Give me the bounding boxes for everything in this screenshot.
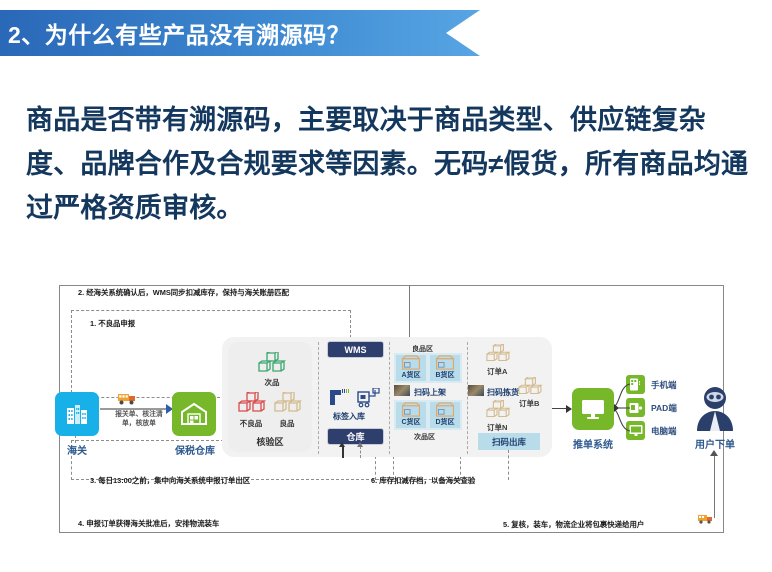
- header-banner: 2、为什么有些产品没有溯源码？: [0, 0, 480, 66]
- arrow-warehouse-out: [360, 446, 361, 458]
- banner-shape: 2、为什么有些产品没有溯源码？: [0, 10, 480, 56]
- cell-A[interactable]: A货区: [396, 355, 426, 381]
- label-inbound-label: 标签入库: [333, 411, 365, 422]
- warehouse-icon: [180, 401, 208, 427]
- customs-node[interactable]: [55, 392, 99, 436]
- annotation-3: 3. 每日13:00之前，集中向海关系统申报订单出区: [90, 475, 250, 486]
- annotation-6: 6. 库存扣减存档，以备海关查验: [371, 475, 475, 486]
- slide-root: 2、为什么有些产品没有溯源码？ 商品是否带有溯源码，主要取决于商品类型、供应链复…: [0, 0, 772, 572]
- good-zone-title: 良品区: [412, 344, 433, 354]
- order-b-label: 订单B: [519, 398, 539, 409]
- wms-pill[interactable]: WMS: [327, 341, 384, 358]
- shell-divider-2: [389, 342, 390, 454]
- user-label: 用户下单: [683, 436, 747, 451]
- carton-icon-b: [434, 355, 456, 370]
- desktop-channel-label: 电脑端: [651, 425, 677, 437]
- tablet-channel-label: PAD端: [651, 402, 677, 414]
- customs-label: 海关: [47, 442, 107, 457]
- label-cart-icon: [357, 388, 381, 408]
- bonded-warehouse-node[interactable]: [172, 392, 216, 436]
- user-avatar-icon: [693, 385, 737, 431]
- annotation-1: 1. 不良品申报: [90, 318, 135, 329]
- order-b-boxes-icon: [515, 377, 543, 399]
- cell-B[interactable]: B货区: [430, 355, 460, 381]
- arrow-warehouse-in-head-icon: [339, 442, 345, 447]
- annotation-2: 2. 经海关系统确认后，WMS同步扣减库存，保持与海关账册匹配: [78, 287, 289, 298]
- cell-A-label: A货区: [401, 370, 420, 381]
- wms-label: WMS: [345, 345, 367, 355]
- cell-B-label: B货区: [435, 370, 454, 381]
- cell-D-label: D货区: [435, 417, 454, 428]
- scan-photo-icon-pick: [468, 385, 484, 396]
- page-title: 2、为什么有些产品没有溯源码？: [0, 16, 350, 50]
- cell-C[interactable]: C货区: [396, 402, 426, 428]
- line-a5-to-user: [714, 456, 715, 518]
- defective-boxes-icon: [256, 352, 286, 378]
- bad-goods-boxes-icon: [236, 392, 266, 418]
- shell-divider-1: [318, 342, 319, 454]
- arrow-warehouse-in: [342, 446, 344, 458]
- arrow-shell-to-push-head-icon: [566, 405, 572, 413]
- customs-building-icon: [64, 401, 90, 427]
- shelf-scan-label: 扫码上架: [414, 387, 446, 398]
- defect-zone-title: 次品区: [414, 432, 435, 442]
- defective-label: 次品: [259, 377, 285, 388]
- barcode-scanner-icon: [329, 388, 351, 408]
- shell-divider-3: [467, 342, 468, 454]
- bad-goods-label: 不良品: [232, 418, 270, 429]
- bonded-warehouse-label: 保税仓库: [160, 442, 230, 457]
- monitor-icon: [580, 397, 606, 421]
- arrow-user-head-icon: [710, 450, 718, 456]
- workflow-diagram: 2. 经海关系统确认后，WMS同步扣减库存，保持与海关账册匹配 1. 不良品申报…: [0, 272, 772, 562]
- good-goods-label: 良品: [272, 418, 302, 429]
- mobile-channel-label: 手机端: [651, 379, 677, 391]
- push-to-channels-connector: [612, 372, 632, 444]
- order-n-boxes-icon: [483, 400, 511, 422]
- truck-icon-annotation-5: [698, 513, 714, 525]
- annotation-5: 5. 复核，装车，物流企业将包裹快递给用户: [503, 519, 644, 530]
- out-scan-label: 扫码出库: [492, 436, 526, 448]
- carton-icon-d: [434, 402, 456, 417]
- inspection-zone-label: 核验区: [240, 435, 300, 448]
- scan-photo-icon-shelf: [394, 385, 410, 396]
- cell-C-label: C货区: [401, 417, 420, 428]
- good-goods-boxes-icon: [272, 392, 302, 418]
- truck-icon-transit: [118, 392, 138, 407]
- order-a-boxes-icon: [483, 344, 511, 366]
- line-outscan-down: [508, 450, 509, 480]
- out-scan-band[interactable]: 扫码出库: [478, 433, 540, 450]
- push-system-node[interactable]: [572, 388, 614, 430]
- body-paragraph: 商品是否带有溯源码，主要取决于商品类型、供应链复杂度、品牌合作及合规要求等因素。…: [26, 98, 750, 230]
- transport-doc-label: 报关单、核注清单，核放单: [109, 410, 169, 428]
- order-a-label: 订单A: [487, 366, 507, 377]
- cell-D[interactable]: D货区: [430, 402, 460, 428]
- carton-icon-a: [400, 355, 422, 370]
- arrow-warehouse-out-head-icon: [357, 442, 363, 447]
- annotation-4: 4. 申报订单获得海关批准后，安排物流装车: [78, 518, 219, 529]
- warehouse-pill[interactable]: 仓库: [327, 428, 384, 445]
- carton-icon-c: [400, 402, 422, 417]
- order-n-label: 订单N: [487, 422, 507, 433]
